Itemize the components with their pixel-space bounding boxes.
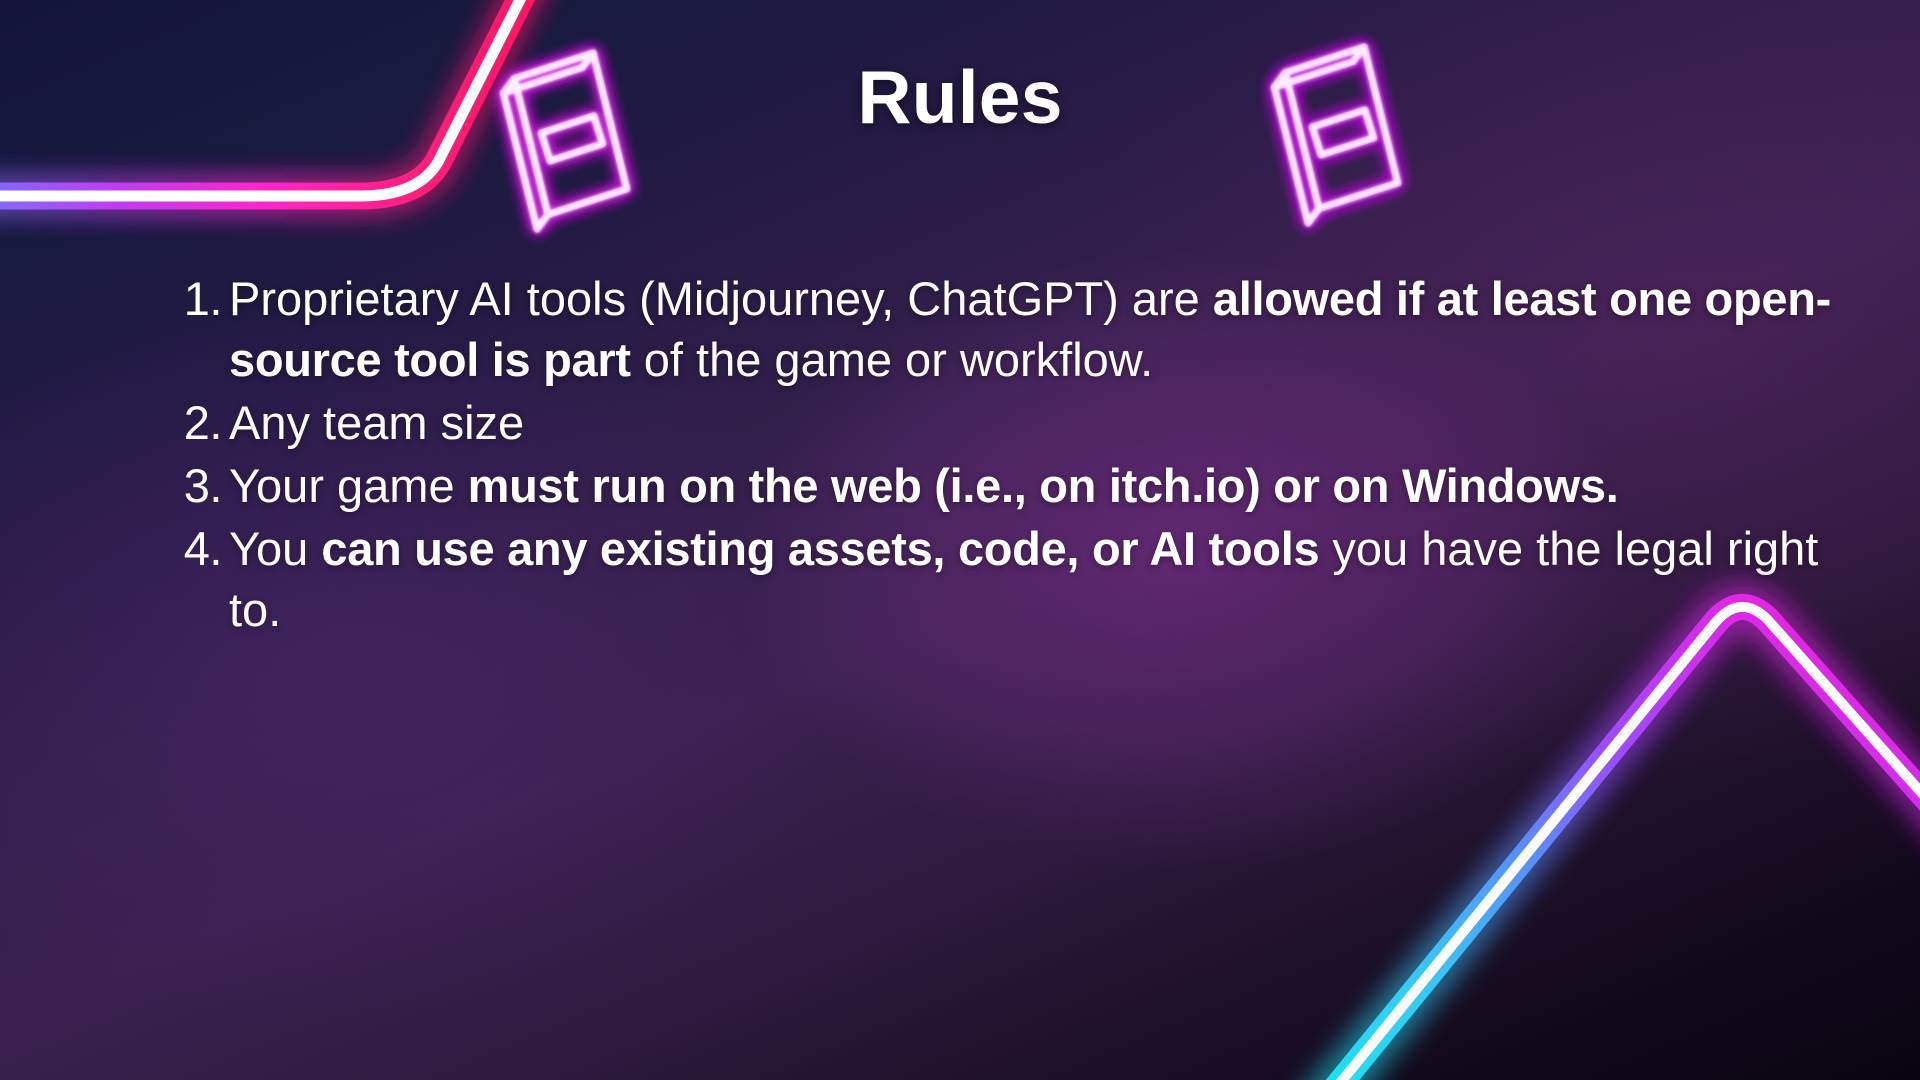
rule-number-3: 3. [160,455,224,516]
rule-3-part-2: must run on the web (i.e., on itch.io) o… [468,459,1619,512]
rule-number-2: 2. [160,392,224,453]
rule-4-part-1: You [229,522,321,575]
rule-2-part-1: Any team size [229,396,524,449]
rule-item-2: 2. Any team size [160,392,1860,453]
rule-item-3: 3. Your game must run on the web (i.e., … [160,455,1860,516]
rule-text-4: You can use any existing assets, code, o… [224,518,1860,640]
rule-3-part-1: Your game [229,459,468,512]
slide-root: Rules 1. Proprietary AI tools (Midjourne… [0,0,1920,1080]
rule-text-2: Any team size [224,392,1860,453]
rules-list: 1. Proprietary AI tools (Midjourney, Cha… [120,268,1860,643]
rule-text-1: Proprietary AI tools (Midjourney, ChatGP… [224,268,1860,390]
neon-chevron-bottom-right-glow [1310,607,1920,1080]
rule-1-part-1: Proprietary AI tools (Midjourney, ChatGP… [229,272,1213,325]
rule-item-4: 4. You can use any existing assets, code… [160,518,1860,640]
rule-4-part-2: can use any existing assets, code, or AI… [321,522,1319,575]
neon-chevron-bottom-right [1310,607,1920,1080]
rule-number-1: 1. [160,268,224,329]
rule-1-part-3: of the game or workflow. [631,333,1153,386]
rule-item-1: 1. Proprietary AI tools (Midjourney, Cha… [160,268,1860,390]
rule-text-3: Your game must run on the web (i.e., on … [224,455,1860,516]
rule-number-4: 4. [160,518,224,579]
page-title: Rules [0,60,1920,135]
